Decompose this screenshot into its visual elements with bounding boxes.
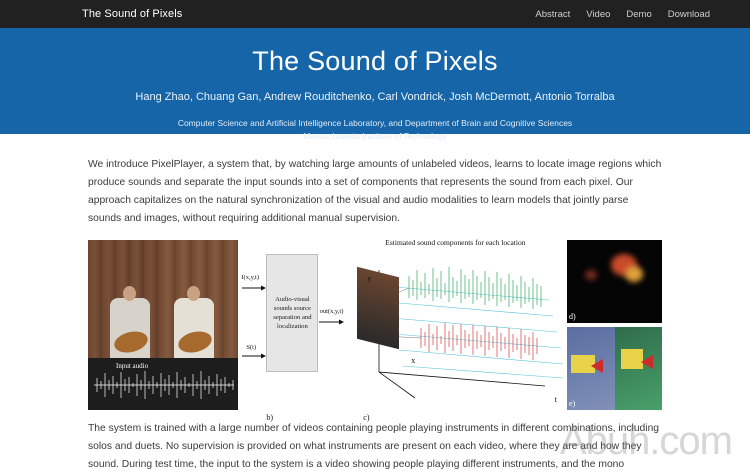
figure-label-b: b) — [266, 413, 273, 422]
abstract-paragraph-2: The system is trained with a large numbe… — [88, 420, 662, 474]
musician-left — [110, 298, 150, 358]
system-overview-figure: Input video Input audio — [88, 240, 662, 410]
nav-link-video[interactable]: Video — [586, 9, 610, 20]
main-content: We introduce PixelPlayer, a system that,… — [0, 134, 750, 474]
musician-right-head — [187, 286, 200, 301]
axis-label-x: x — [411, 356, 415, 365]
input-audio-waveform-icon — [92, 368, 236, 402]
signal-label-ixyt: I(x,y,t) — [241, 274, 259, 281]
signal-label-sout: S out(x,y,t) — [314, 308, 343, 315]
axis-label-y: y — [367, 274, 371, 283]
figure-panel-c-sound-components-plot: Estimated sound components for each loca… — [349, 240, 563, 410]
nav-links: Abstract Video Demo Download — [535, 9, 736, 20]
page-title: The Sound of Pixels — [0, 46, 750, 77]
figure-label-c: c) — [363, 413, 369, 422]
nav-link-abstract[interactable]: Abstract — [535, 9, 570, 20]
site-brand[interactable]: The Sound of Pixels — [82, 8, 182, 20]
top-navbar: The Sound of Pixels Abstract Video Demo … — [0, 0, 750, 28]
figure-panel-b-separation-module: I(x,y,t) S(t) S out(x,y,t) Audio-visual … — [242, 240, 345, 410]
guitar-right — [176, 328, 214, 356]
guitar-left — [112, 328, 150, 356]
energy-blob-secondary — [625, 266, 643, 282]
signal-label-st: S(t) — [246, 344, 256, 351]
separation-localization-box: Audio-visual sounds source separation an… — [266, 254, 318, 372]
figure-panel-de-column: d) e) — [567, 240, 662, 410]
affiliation-line-1: Computer Science and Artificial Intellig… — [0, 117, 750, 130]
nav-link-demo[interactable]: Demo — [626, 9, 651, 20]
author-list: Hang Zhao, Chuang Gan, Andrew Rouditchen… — [0, 91, 750, 103]
axis-label-t: t — [555, 395, 557, 404]
segment-yellow-right — [621, 349, 643, 369]
figure-panel-e-segmentation-map: e) — [567, 327, 662, 410]
figure-label-d: d) — [569, 312, 576, 321]
nav-link-download[interactable]: Download — [668, 9, 710, 20]
segment-red-triangle-left — [591, 359, 603, 373]
musician-right — [174, 298, 214, 358]
figure-panel-a-input-video: Input video Input audio — [88, 240, 238, 410]
musician-left-head — [123, 286, 136, 301]
hero-banner: The Sound of Pixels Hang Zhao, Chuang Ga… — [0, 28, 750, 134]
figure-label-e: e) — [569, 399, 575, 408]
abstract-paragraph-1: We introduce PixelPlayer, a system that,… — [88, 156, 662, 228]
segmentation-left — [567, 327, 615, 410]
energy-blob-tertiary — [585, 270, 597, 280]
segment-red-triangle-right — [641, 355, 653, 369]
segmentation-right — [615, 327, 662, 410]
panel-c-frame-thumbnail — [357, 267, 399, 349]
figure-panel-d-sound-energy-map: d) — [567, 240, 662, 323]
